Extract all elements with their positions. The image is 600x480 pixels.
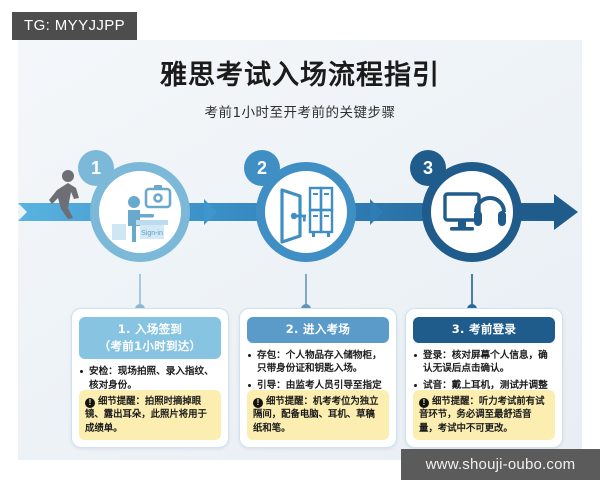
step-card-1: 1. 入场签到 （考前1小时到达） 安检：现场拍照、录入指纹、核对身份。 !细节… — [71, 308, 229, 448]
step-card-3-title: 3. 考前登录 — [416, 321, 552, 338]
timeline-node-2: 2 — [244, 150, 368, 274]
page-title: 雅思考试入场流程指引 — [18, 60, 582, 92]
poster-canvas: 雅思考试入场流程指引 考前1小时至开考前的关键步骤 — [18, 40, 582, 460]
infographic-screen: TG: MYYJJPP 雅思考试入场流程指引 考前1小时至开考前的关键步骤 — [0, 0, 600, 480]
title-block: 雅思考试入场流程指引 考前1小时至开考前的关键步骤 — [18, 60, 582, 121]
exclamation-icon: ! — [85, 398, 95, 408]
step-card-1-subtitle: （考前1小时到达） — [82, 338, 218, 355]
svg-text:Sign-in: Sign-in — [141, 230, 163, 237]
step-card-1-note-text: 细节提醒：拍照时摘掉眼镜、露出耳朵，此照片将用于成绩单。 — [85, 396, 207, 434]
step-2-number: 2 — [244, 150, 280, 186]
step-3-number: 3 — [410, 150, 446, 186]
band-chevron-icon — [370, 199, 383, 225]
site-watermark: www.shouji-oubo.com — [401, 449, 600, 480]
exclamation-icon: ! — [253, 398, 263, 408]
list-item: 登录：核对屏幕个人信息，确认无误后点击确认。 — [413, 349, 555, 376]
exclamation-icon: ! — [419, 398, 429, 408]
step-card-3-note-text: 细节提醒：听力考试前有试音环节，务必调至最舒适音量，考试中不可更改。 — [419, 396, 545, 434]
step-card-2-header: 2. 进入考场 — [247, 317, 389, 343]
timeline-node-1: Sign-in 1 — [78, 150, 202, 274]
door-key-lockers-icon — [265, 171, 347, 253]
step-card-3-note: !细节提醒：听力考试前有试音环节，务必调至最舒适音量，考试中不可更改。 — [413, 390, 555, 440]
tg-handle-badge: TG: MYYJJPP — [12, 12, 137, 40]
step-card-1-note: !细节提醒：拍照时摘掉眼镜、露出耳朵，此照片将用于成绩单。 — [79, 390, 221, 440]
monitor-headphones-icon — [431, 171, 513, 253]
step-card-1-header: 1. 入场签到 （考前1小时到达） — [79, 317, 221, 359]
step-card-2-title: 2. 进入考场 — [250, 321, 386, 338]
step-card-2-note: !细节提醒：机考考位为独立隔间，配备电脑、耳机、草稿纸和笔。 — [247, 390, 389, 440]
band-left-notch — [18, 203, 27, 221]
step-card-1-title: 1. 入场签到 — [82, 321, 218, 338]
band-chevron-icon — [204, 199, 217, 225]
step-1-number: 1 — [78, 150, 114, 186]
step-card-3: 3. 考前登录 登录：核对屏幕个人信息，确认无误后点击确认。 试音：戴上耳机，测… — [405, 308, 563, 448]
step-card-1-bullets: 安检：现场拍照、录入指纹、核对身份。 — [79, 365, 221, 392]
step-card-3-header: 3. 考前登录 — [413, 317, 555, 343]
list-item: 安检：现场拍照、录入指纹、核对身份。 — [79, 365, 221, 392]
sign-in-desk-camera-icon: Sign-in — [99, 171, 181, 253]
step-card-2: 2. 进入考场 存包：个人物品存入储物柜，只带身份证和钥匙入场。 引导：由监考人… — [239, 308, 397, 448]
step-card-2-note-text: 细节提醒：机考考位为独立隔间，配备电脑、耳机、草稿纸和笔。 — [253, 396, 379, 434]
page-subtitle: 考前1小时至开考前的关键步骤 — [18, 101, 582, 121]
timeline-node-3: 3 — [410, 150, 534, 274]
list-item: 存包：个人物品存入储物柜，只带身份证和钥匙入场。 — [247, 349, 389, 376]
